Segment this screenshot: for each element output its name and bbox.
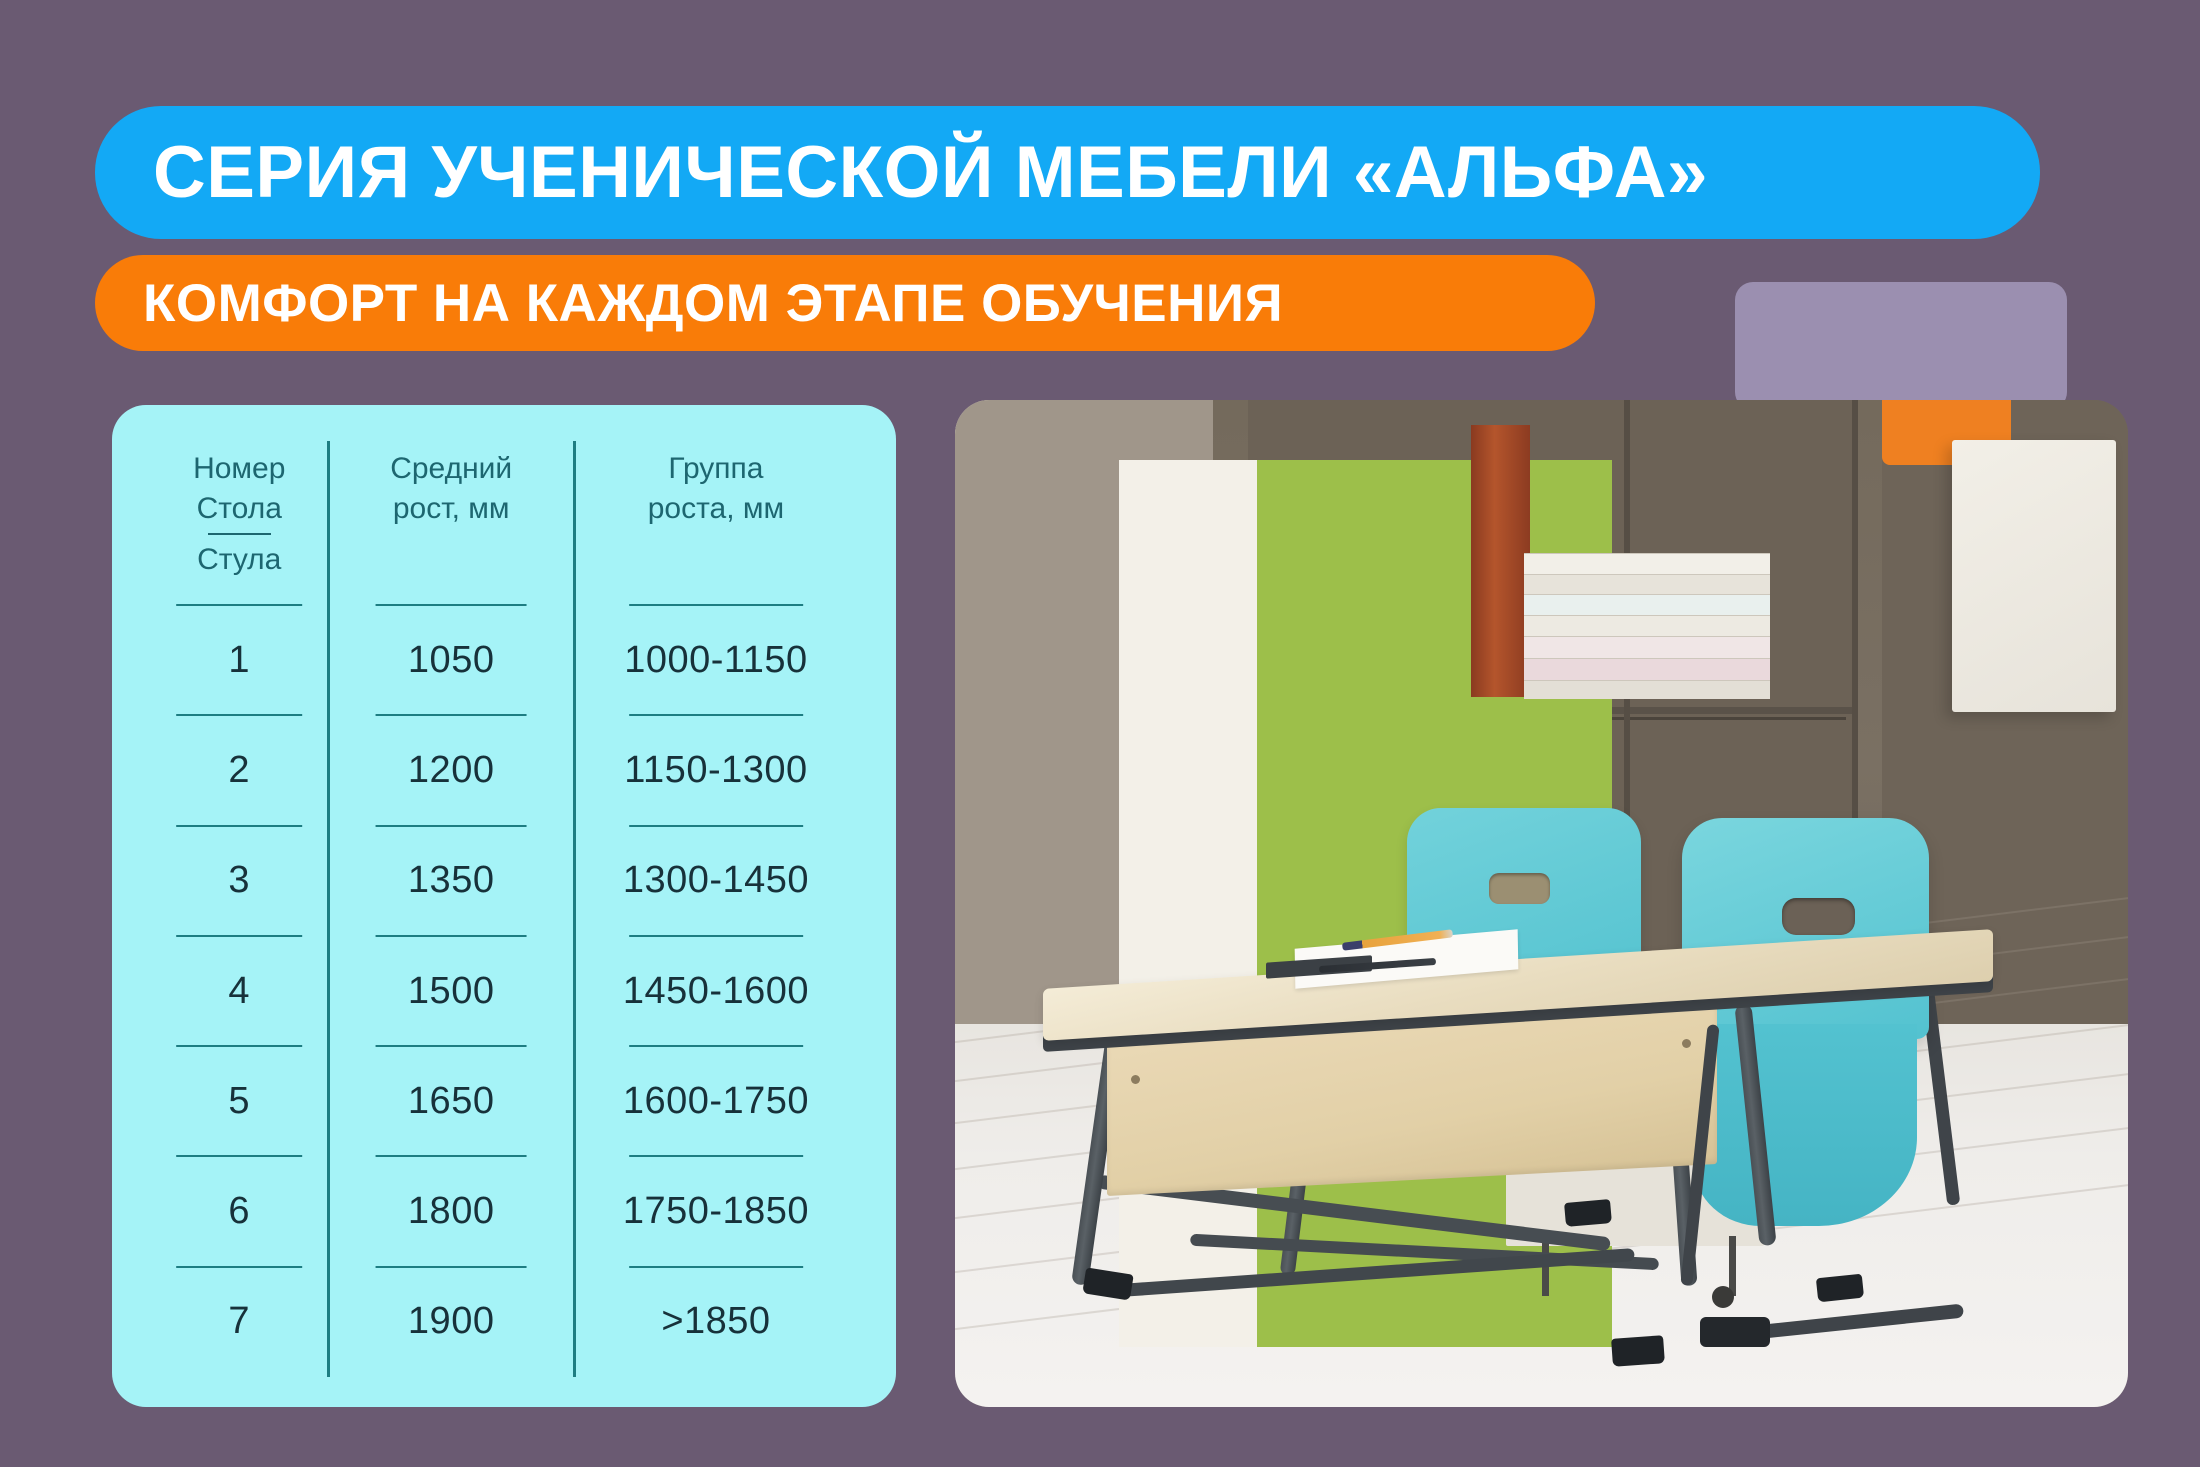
cell-number: 7 bbox=[152, 1267, 328, 1377]
cabinet-leg bbox=[1729, 1236, 1736, 1296]
cell-height-group: 1300-1450 bbox=[574, 826, 856, 936]
cell-average-height: 1900 bbox=[328, 1267, 574, 1377]
chair-near-seat bbox=[1694, 1024, 1917, 1225]
cell-number: 4 bbox=[152, 936, 328, 1046]
table-row: 5 1650 1600-1750 bbox=[152, 1046, 856, 1156]
table-row: 1 1050 1000-1150 bbox=[152, 605, 856, 715]
table-row: 3 1350 1300-1450 bbox=[152, 826, 856, 936]
book-stack-item bbox=[1524, 680, 1770, 699]
cell-average-height: 1500 bbox=[328, 936, 574, 1046]
book-stack-item bbox=[1524, 615, 1770, 635]
spec-table-card: Номер Стола Стула Средний рост, мм Групп… bbox=[112, 405, 896, 1407]
header-average-line1: Средний bbox=[390, 452, 512, 485]
table-row: 2 1200 1150-1300 bbox=[152, 715, 856, 825]
desk-foot bbox=[1611, 1335, 1665, 1367]
table-row: 7 1900 >1850 bbox=[152, 1267, 856, 1377]
cell-height-group: 1600-1750 bbox=[574, 1046, 856, 1156]
subtitle-banner: КОМФОРТ НА КАЖДОМ ЭТАПЕ ОБУЧЕНИЯ bbox=[95, 255, 1595, 351]
chair-far-handle-cutout bbox=[1489, 873, 1550, 904]
cabinet-caster bbox=[1712, 1286, 1734, 1308]
decorative-block bbox=[1735, 282, 2067, 410]
cell-number: 3 bbox=[152, 826, 328, 936]
header-number-numerator: Стола bbox=[197, 489, 282, 528]
title-banner: СЕРИЯ УЧЕНИЧЕСКОЙ МЕБЕЛИ «АЛЬФА» bbox=[95, 106, 2040, 239]
cell-average-height: 1200 bbox=[328, 715, 574, 825]
header-number-fraction: Стола Стула bbox=[197, 489, 282, 579]
header-group-line2: роста, мм bbox=[648, 492, 784, 525]
header-group-line1: Группа bbox=[668, 452, 763, 485]
spec-table-head: Номер Стола Стула Средний рост, мм Групп… bbox=[152, 441, 856, 605]
cell-height-group: 1150-1300 bbox=[574, 715, 856, 825]
spec-table-body: 1 1050 1000-1150 2 1200 1150-1300 3 1350… bbox=[152, 605, 856, 1377]
cell-number: 6 bbox=[152, 1156, 328, 1266]
header-average-line2: рост, мм bbox=[393, 492, 510, 525]
book-red bbox=[1471, 425, 1530, 697]
book-stack-item bbox=[1524, 574, 1770, 594]
whiteboard bbox=[1952, 440, 2116, 712]
cell-height-group: >1850 bbox=[574, 1267, 856, 1377]
cell-average-height: 1800 bbox=[328, 1156, 574, 1266]
cell-number: 2 bbox=[152, 715, 328, 825]
cell-number: 1 bbox=[152, 605, 328, 715]
header-number-label: Номер bbox=[193, 452, 285, 485]
book-stack-item bbox=[1524, 636, 1770, 658]
book-stack-item bbox=[1524, 553, 1770, 574]
cell-average-height: 1350 bbox=[328, 826, 574, 936]
product-photo bbox=[955, 400, 2128, 1407]
chair-near-foot-cap bbox=[1700, 1317, 1770, 1347]
cell-height-group: 1000-1150 bbox=[574, 605, 856, 715]
book-stack-item bbox=[1524, 594, 1770, 615]
panel-screw bbox=[1131, 1075, 1140, 1084]
page-title: СЕРИЯ УЧЕНИЧЕСКОЙ МЕБЕЛИ «АЛЬФА» bbox=[153, 136, 1708, 209]
header-cell-average-height: Средний рост, мм bbox=[328, 441, 574, 605]
cell-height-group: 1450-1600 bbox=[574, 936, 856, 1046]
fraction-bar bbox=[208, 533, 271, 535]
spec-table-header-row: Номер Стола Стула Средний рост, мм Групп… bbox=[152, 441, 856, 605]
page-subtitle: КОМФОРТ НА КАЖДОМ ЭТАПЕ ОБУЧЕНИЯ bbox=[143, 277, 1283, 330]
table-row: 4 1500 1450-1600 bbox=[152, 936, 856, 1046]
desk-foot bbox=[1816, 1274, 1864, 1303]
book-stack-item bbox=[1524, 658, 1770, 680]
header-cell-number: Номер Стола Стула bbox=[152, 441, 328, 605]
table-row: 6 1800 1750-1850 bbox=[152, 1156, 856, 1266]
cell-average-height: 1050 bbox=[328, 605, 574, 715]
header-number-denominator: Стула bbox=[197, 540, 282, 579]
cell-number: 5 bbox=[152, 1046, 328, 1156]
cell-average-height: 1650 bbox=[328, 1046, 574, 1156]
spec-table: Номер Стола Стула Средний рост, мм Групп… bbox=[152, 441, 856, 1377]
desk-foot bbox=[1564, 1199, 1612, 1227]
chair-near-handle-cutout bbox=[1782, 898, 1855, 934]
cell-height-group: 1750-1850 bbox=[574, 1156, 856, 1266]
header-cell-height-group: Группа роста, мм bbox=[574, 441, 856, 605]
